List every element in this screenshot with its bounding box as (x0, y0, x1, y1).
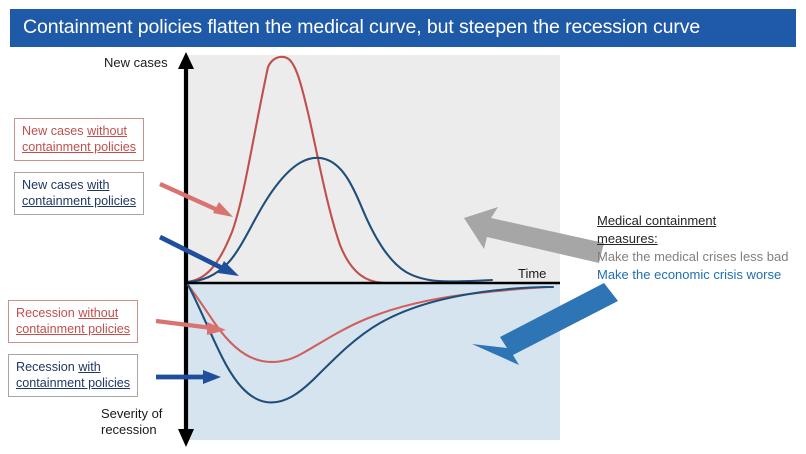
axis-label-time: Time (518, 266, 546, 282)
callout-line2: containment policies (16, 376, 130, 390)
callout-line1-emphasis: with (87, 178, 109, 192)
callout-line1-prefix: New cases (22, 178, 87, 192)
severity-label-line2: recession (101, 422, 157, 437)
right-note-gray-text: Make the medical crises less bad (597, 248, 802, 266)
callout-line1-prefix: Recession (16, 306, 78, 320)
right-note-heading-line2: measures: (597, 230, 802, 248)
callout-line1-prefix: New cases (22, 124, 87, 138)
callout-line2: containment policies (22, 194, 136, 208)
callout-recession-with-containment: Recession with containment policies (8, 354, 138, 397)
callout-line1-emphasis: without (87, 124, 127, 138)
right-note-heading-line1: Medical containment (597, 212, 802, 230)
lower-plot-background (186, 284, 560, 440)
slide-title-bar: Containment policies flatten the medical… (10, 9, 796, 47)
severity-label-line1: Severity of (101, 406, 162, 421)
callout-new-cases-without-containment: New cases without containment policies (14, 118, 144, 161)
upper-plot-background (186, 55, 560, 283)
callout-line1-prefix: Recession (16, 360, 78, 374)
axis-label-severity-of-recession: Severity of recession (101, 406, 162, 438)
callout-recession-without-containment: Recession without containment policies (8, 300, 138, 343)
page-title: Containment policies flatten the medical… (23, 18, 700, 38)
callout-line2: containment policies (22, 140, 136, 154)
callout-new-cases-with-containment: New cases with containment policies (14, 172, 144, 215)
axis-label-new-cases: New cases (104, 55, 168, 71)
right-annotation-block: Medical containment measures: Make the m… (597, 212, 802, 284)
callout-line1-emphasis: with (78, 360, 100, 374)
callout-line2: containment policies (16, 322, 130, 336)
slide-canvas: Containment policies flatten the medical… (0, 0, 806, 454)
right-note-blue-text: Make the economic crisis worse (597, 266, 802, 284)
callout-line1-emphasis: without (78, 306, 118, 320)
